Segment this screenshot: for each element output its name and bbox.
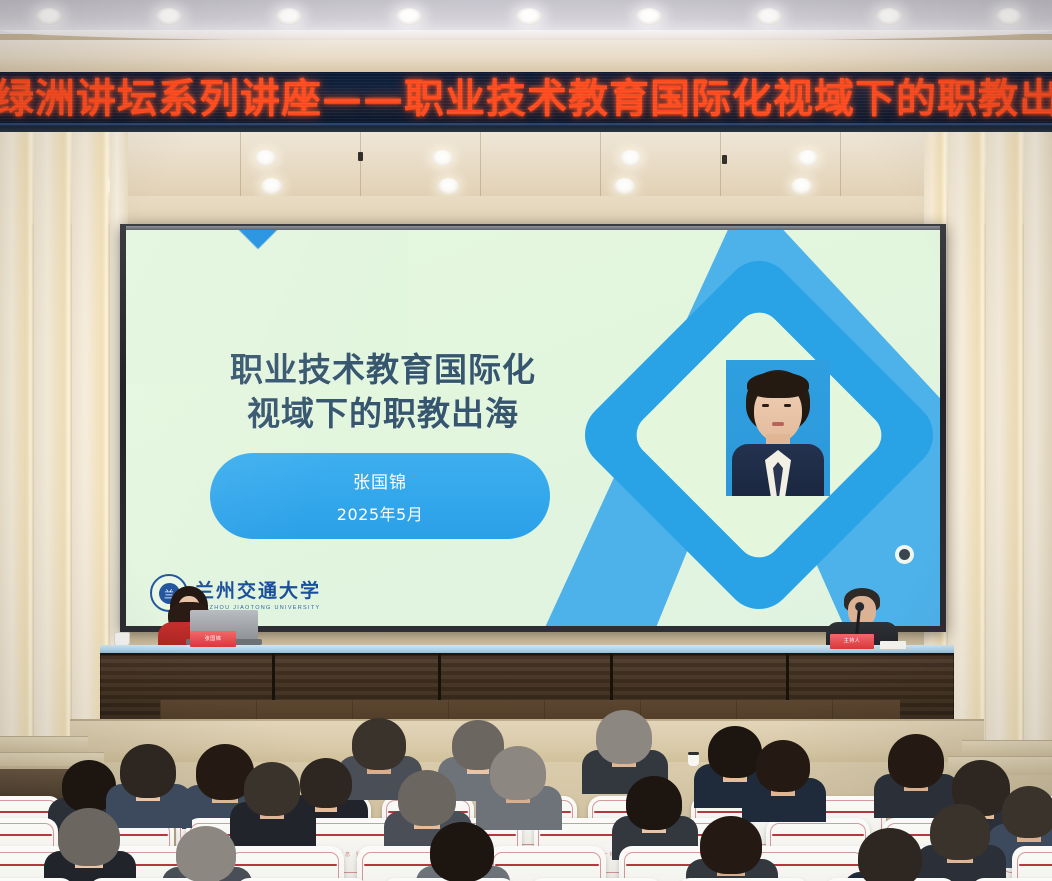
audience-member-head <box>626 776 682 830</box>
audience-member-head <box>930 804 990 860</box>
presenter-nameplate: 张国锦 <box>190 631 236 647</box>
downlight-icon <box>255 150 276 166</box>
downlight-icon <box>636 8 662 25</box>
downlight-icon <box>156 8 182 25</box>
downlight-icon <box>756 8 782 25</box>
host-nameplate: 主持人 <box>830 634 874 649</box>
downlight-icon <box>876 8 902 25</box>
slide-avatar-watermark-icon <box>895 545 914 564</box>
paper-sheet <box>880 641 906 649</box>
downlight-icon <box>438 178 459 194</box>
audience-member-head <box>490 746 546 800</box>
presenter-portrait-photo <box>726 360 830 496</box>
downlight-icon <box>36 8 62 25</box>
downlight-icon <box>791 178 812 194</box>
audience-member-head <box>398 770 456 826</box>
slide-presenter-pill: 张国锦 2025年5月 <box>210 453 550 539</box>
audience-seating: 自强不息 独树一帜自强不息 独树一帜自强不息 独树一帜自强不息 独树一帜自强不息… <box>0 700 1052 881</box>
downlight-icon <box>996 8 1022 25</box>
host-nameplate-text: 主持人 <box>830 634 874 649</box>
sprinkler-icon <box>358 152 363 161</box>
audience-member-head <box>120 744 176 798</box>
led-banner-text: 绿洲讲坛系列讲座——职业技术教育国际化视域下的职教出海 <box>0 72 1052 127</box>
led-banner: 绿洲讲坛系列讲座——职业技术教育国际化视域下的职教出海 <box>0 72 1052 128</box>
slide-date: 2025年5月 <box>337 501 423 525</box>
audience-member-head <box>58 808 120 866</box>
audience-member-head <box>244 762 300 816</box>
downlight-icon <box>797 150 818 166</box>
coffee-cup <box>688 752 699 766</box>
downlight-icon <box>516 8 542 25</box>
audience-member-head <box>596 710 652 764</box>
sprinkler-icon <box>722 155 727 164</box>
audience-member-head <box>708 726 762 778</box>
audience-member-head <box>756 740 810 792</box>
audience-member-head <box>858 828 922 881</box>
presentation-slide: 职业技术教育国际化 视域下的职教出海 张国锦 2025年5月 兰 兰州交通大学 … <box>126 230 940 626</box>
slide-presenter-name: 张国锦 <box>353 468 407 493</box>
auditorium-seat: 自强不息 独树一帜 <box>1012 846 1052 881</box>
audience-member-head <box>1002 786 1052 838</box>
lecture-hall-photo: 绿洲讲坛系列讲座——职业技术教育国际化视域下的职教出海 <box>0 0 1052 881</box>
downlight-icon <box>396 8 422 25</box>
ceiling-soffit <box>0 40 1052 74</box>
downlight-icon <box>432 150 453 166</box>
audience-member-head <box>888 734 944 788</box>
audience-member-head <box>176 826 236 881</box>
audience-member-head <box>430 822 494 881</box>
audience-member-head <box>352 718 406 770</box>
downlight-icon <box>276 8 302 25</box>
audience-member-head <box>700 816 762 874</box>
downlight-icon <box>614 178 635 194</box>
slide-title-line-2: 视域下的职教出海 <box>168 392 598 436</box>
downlight-icon <box>620 150 641 166</box>
presenter-nameplate-text: 张国锦 <box>190 631 236 647</box>
projection-screen-bezel: 职业技术教育国际化 视域下的职教出海 张国锦 2025年5月 兰 兰州交通大学 … <box>120 224 946 632</box>
audience-member-head <box>300 758 352 808</box>
projection-screen: 职业技术教育国际化 视域下的职教出海 张国锦 2025年5月 兰 兰州交通大学 … <box>126 230 940 626</box>
slide-title-line-1: 职业技术教育国际化 <box>168 348 598 392</box>
slide-title: 职业技术教育国际化 视域下的职教出海 <box>168 348 598 435</box>
downlight-icon <box>261 178 282 194</box>
